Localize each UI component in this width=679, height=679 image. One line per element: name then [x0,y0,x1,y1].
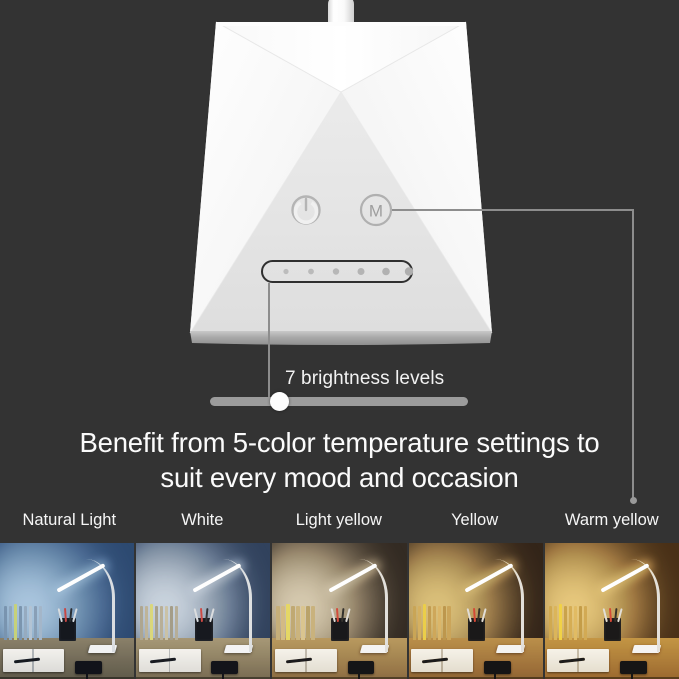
color-temperature-label-1: White [181,511,223,530]
panel-color-tint [272,543,406,679]
mode-callout-line-horizontal [392,209,634,211]
brightness-callout-line [268,283,270,403]
brightness-levels-label: 7 brightness levels [285,368,444,390]
brightness-slider-knob[interactable] [270,392,289,411]
color-temperature-labels: Natural LightWhiteLight yellowYellowWarm… [0,511,679,543]
panel-color-tint [0,543,134,679]
color-temperature-label-3: Yellow [451,511,498,530]
product-feature-image: M 7 brightness levels Benefit from 5-col… [0,0,679,679]
brightness-slider[interactable] [210,397,468,406]
lamp-illustration: M [0,0,679,345]
color-temperature-photo-strip [0,543,679,679]
headline: Benefit from 5-color temperature setting… [0,425,679,495]
panel-color-tint [409,543,543,679]
lamp-base [190,22,492,345]
svg-text:M: M [369,202,383,221]
color-temperature-label-0: Natural Light [22,511,116,530]
brightness-slider-track[interactable] [210,397,468,406]
panel-color-tint [136,543,270,679]
panel-color-tint [545,543,679,679]
headline-line-1: Benefit from 5-color temperature setting… [0,425,679,460]
photo-panel-1 [136,543,270,679]
headline-line-2: suit every mood and occasion [0,460,679,495]
photo-panel-4 [545,543,679,679]
color-temperature-label-2: Light yellow [296,511,382,530]
photo-panel-3 [409,543,543,679]
photo-panel-0 [0,543,134,679]
mode-callout-endpoint-dot [630,497,637,504]
photo-panel-2 [272,543,406,679]
color-temperature-label-4: Warm yellow [565,511,659,530]
